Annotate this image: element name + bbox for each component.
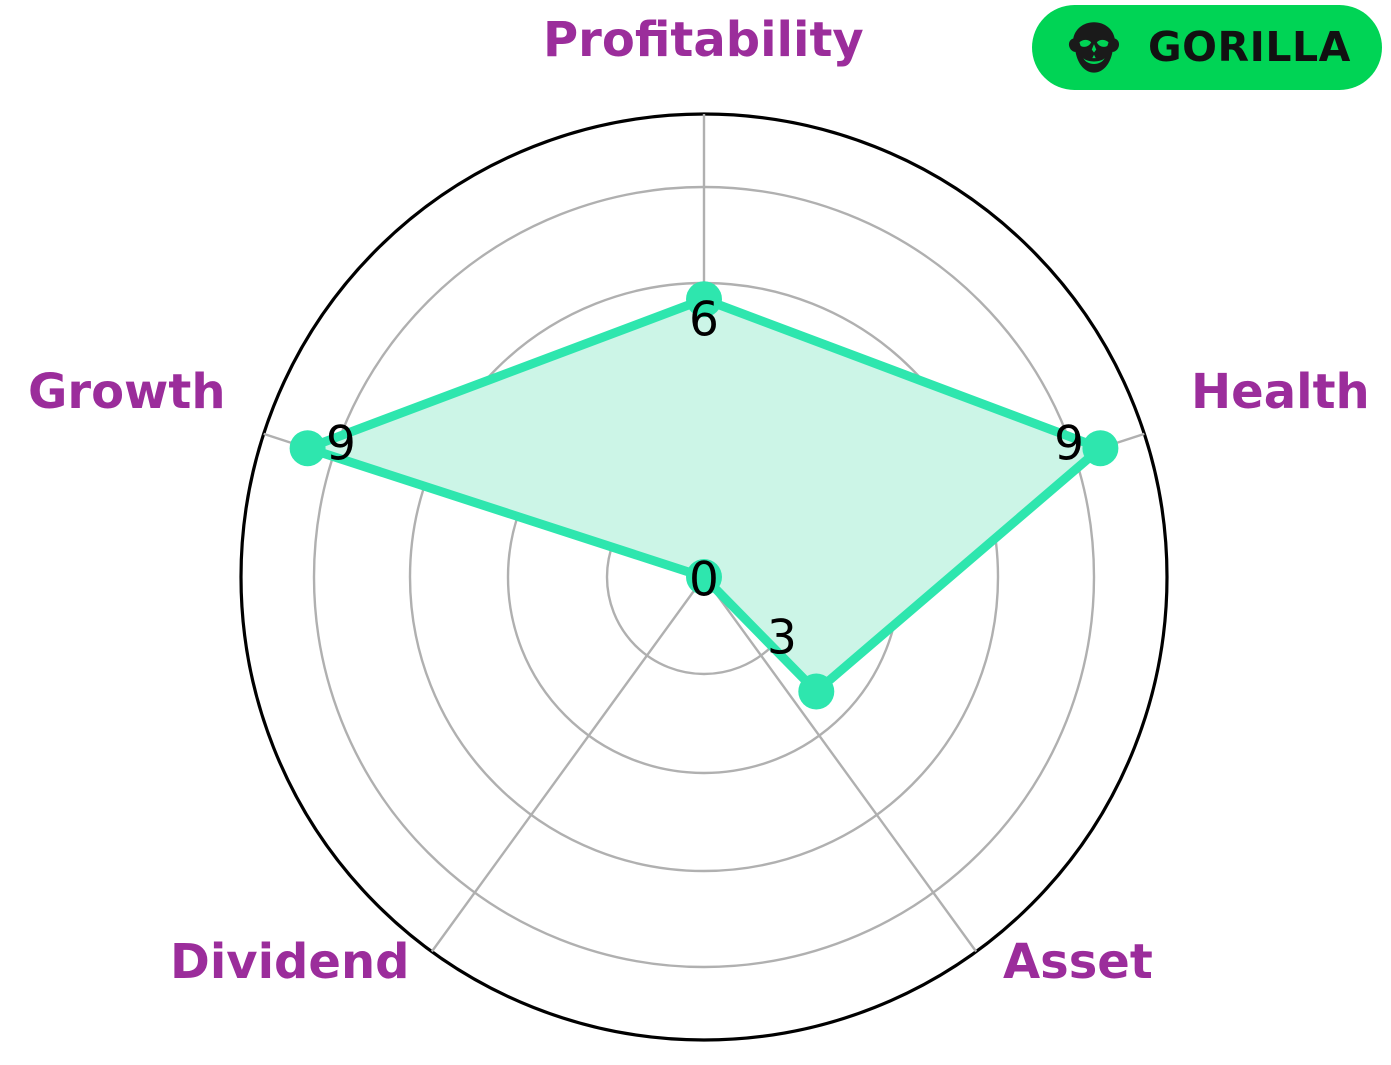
value-label-dividend: 0 <box>689 553 719 608</box>
data-point-growth <box>290 430 326 466</box>
value-label-growth: 9 <box>326 417 356 472</box>
value-label-asset: 3 <box>767 611 797 666</box>
brand-name: GORILLA <box>1148 27 1351 68</box>
brand-badge: GORILLA <box>1032 5 1382 90</box>
axis-label-asset: Asset <box>1003 938 1153 986</box>
value-label-health: 9 <box>1054 417 1084 472</box>
axis-label-dividend: Dividend <box>170 938 409 986</box>
value-label-profitability: 6 <box>689 293 719 348</box>
radar-chart: 6 9 3 0 9 Profitability Health Growth Di… <box>0 0 1391 1065</box>
axis-label-profitability: Profitability <box>543 16 864 64</box>
data-point-asset <box>798 674 834 710</box>
radar-chart-canvas: 6 9 3 0 9 <box>0 0 1391 1065</box>
spoke-dividend <box>432 577 704 952</box>
gorilla-face-icon <box>1066 19 1122 77</box>
series-polygon <box>308 299 1101 691</box>
axis-label-growth: Growth <box>28 368 226 416</box>
axis-label-health: Health <box>1191 368 1370 416</box>
data-point-health <box>1082 430 1118 466</box>
